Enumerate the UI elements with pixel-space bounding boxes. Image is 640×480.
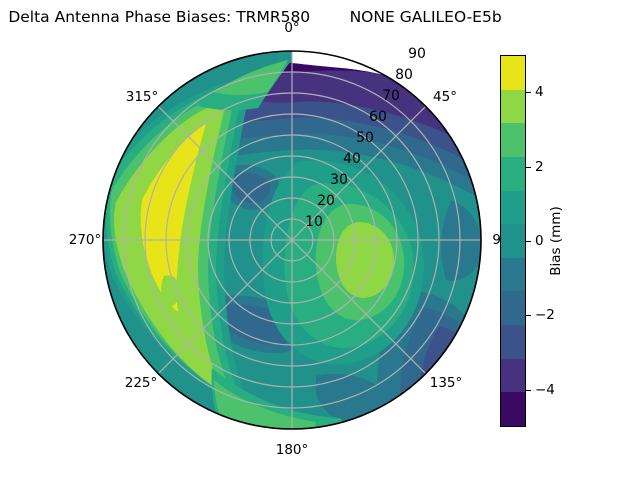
colorbar-ticklabel-4: 4 [535,84,544,100]
colorbar-tick-neg4 [526,390,531,391]
colorbar-band-2 [501,325,525,359]
colorbar-band-10 [501,56,525,90]
colorbar-band-7 [501,157,525,191]
polar-grid-spokes [103,51,481,429]
colorbar-axis-label: Bias (mm) [548,206,564,275]
radial-label-40: 40 [343,151,361,167]
radial-label-20: 20 [317,193,335,209]
azimuth-label-315: 315° [126,89,159,105]
colorbar-band-3 [501,291,525,325]
colorbar-band-0 [501,392,525,426]
colorbar-band-9 [501,90,525,124]
colorbar-band-5 [501,224,525,258]
colorbar-band-6 [501,191,525,225]
colorbar-tick-2 [526,167,531,168]
colorbar-ticklabel-0: 0 [535,233,544,249]
colorbar-ticklabel-2: 2 [535,159,544,175]
colorbar-band-1 [501,359,525,393]
radial-label-50: 50 [356,130,374,146]
colorbar[interactable]: 4 2 0 −2 −4 [500,55,526,427]
colorbar-ticklabel-neg2: −2 [535,307,555,323]
azimuth-label-225: 225° [125,375,158,391]
figure-canvas: Delta Antenna Phase Biases: TRMR580 NONE… [0,0,640,480]
radial-label-10: 10 [305,214,323,230]
azimuth-label-45: 45° [433,89,457,105]
radial-label-80: 80 [395,67,413,83]
polar-contour-plot [102,50,482,430]
colorbar-band-8 [501,123,525,157]
colorbar-tick-0 [526,241,531,242]
colorbar-gradient [500,55,526,427]
radial-label-30: 30 [330,172,348,188]
colorbar-band-4 [501,258,525,292]
azimuth-label-270: 270° [69,232,102,248]
figure-title: Delta Antenna Phase Biases: TRMR580 NONE… [0,8,510,26]
azimuth-label-180: 180° [276,442,309,458]
azimuth-label-0: 0° [284,20,299,36]
colorbar-ticklabel-neg4: −4 [535,382,555,398]
azimuth-label-135: 135° [430,375,463,391]
colorbar-tick-neg2 [526,315,531,316]
radial-label-70: 70 [382,88,400,104]
radial-label-60: 60 [369,109,387,125]
polar-axes[interactable]: 0° 45° 90 135° 180° 225° 270° 315° 10 20… [102,50,482,430]
colorbar-tick-4 [526,92,531,93]
radial-label-90: 90 [408,46,426,62]
